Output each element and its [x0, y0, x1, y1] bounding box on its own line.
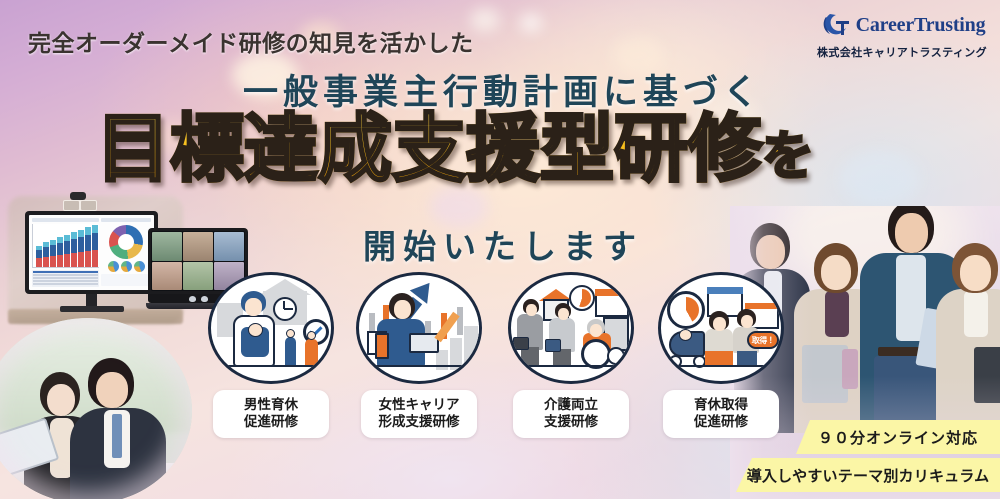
program-label-line-1: 男性育休: [221, 396, 321, 413]
program-label-line-2: 促進研修: [671, 413, 771, 430]
badge-online-90min: ９０分オンライン対応: [796, 420, 1000, 454]
training-promo-banner: CareerTrusting 株式会社キャリアトラスティング 完全オーダーメイド…: [0, 0, 1000, 499]
bar-chart-graphic: [32, 224, 99, 268]
program-card-list: 男性育休 促進研修: [196, 272, 836, 447]
donut-chart-graphic: [109, 225, 143, 259]
career-trusting-swoosh-icon: [819, 8, 853, 42]
headline-line-4: 開始いたします: [363, 220, 643, 268]
program-label-line-1: 育休取得: [671, 396, 771, 413]
headline-line-1: 完全オーダーメイド研修の知見を活かした: [28, 24, 474, 58]
program-card-label: 男性育休 促進研修: [213, 390, 329, 438]
program-card-mens-childcare-leave[interactable]: 男性育休 促進研修: [196, 272, 346, 438]
family-stroller-calendar-icon: 取得！: [658, 272, 784, 384]
badge-theme-curriculum: 導入しやすいテーマ別カリキュラム: [736, 458, 1000, 492]
program-label-line-2: 促進研修: [221, 413, 321, 430]
webcam-icon: [70, 192, 86, 200]
program-card-label: 介護両立 支援研修: [513, 390, 629, 438]
program-label-line-1: 女性キャリア: [369, 396, 469, 413]
caregiving-wheelchair-icon: [508, 272, 634, 384]
company-name: 株式会社キャリアトラスティング: [816, 44, 988, 60]
program-card-womens-career[interactable]: 女性キャリア 形成支援研修: [344, 272, 494, 438]
two-business-people-photo: [0, 318, 192, 499]
program-label-line-1: 介護両立: [521, 396, 621, 413]
program-card-nursing-care-balance[interactable]: 介護両立 支援研修: [496, 272, 646, 438]
program-label-line-2: 形成支援研修: [369, 413, 469, 430]
program-label-line-2: 支援研修: [521, 413, 621, 430]
headline-main-title: 目標達成支援型研修を: [96, 112, 814, 186]
program-card-childcare-leave-uptake[interactable]: 取得！ 育休取得 促進研修: [646, 272, 796, 438]
acquired-speech-bubble: 取得！: [747, 331, 779, 349]
program-card-label: 育休取得 促進研修: [663, 390, 779, 438]
father-with-baby-icon: [208, 272, 334, 384]
businesswoman-growth-arrows-icon: [356, 272, 482, 384]
headline-main-text: 目標達成支援型研修: [96, 107, 762, 190]
bubble-text: 取得！: [752, 335, 775, 346]
company-logo: CareerTrusting 株式会社キャリアトラスティング: [816, 8, 988, 60]
headline-main-suffix: を: [762, 128, 814, 186]
program-card-label: 女性キャリア 形成支援研修: [361, 390, 477, 438]
logo-wordmark: CareerTrusting: [856, 14, 986, 37]
